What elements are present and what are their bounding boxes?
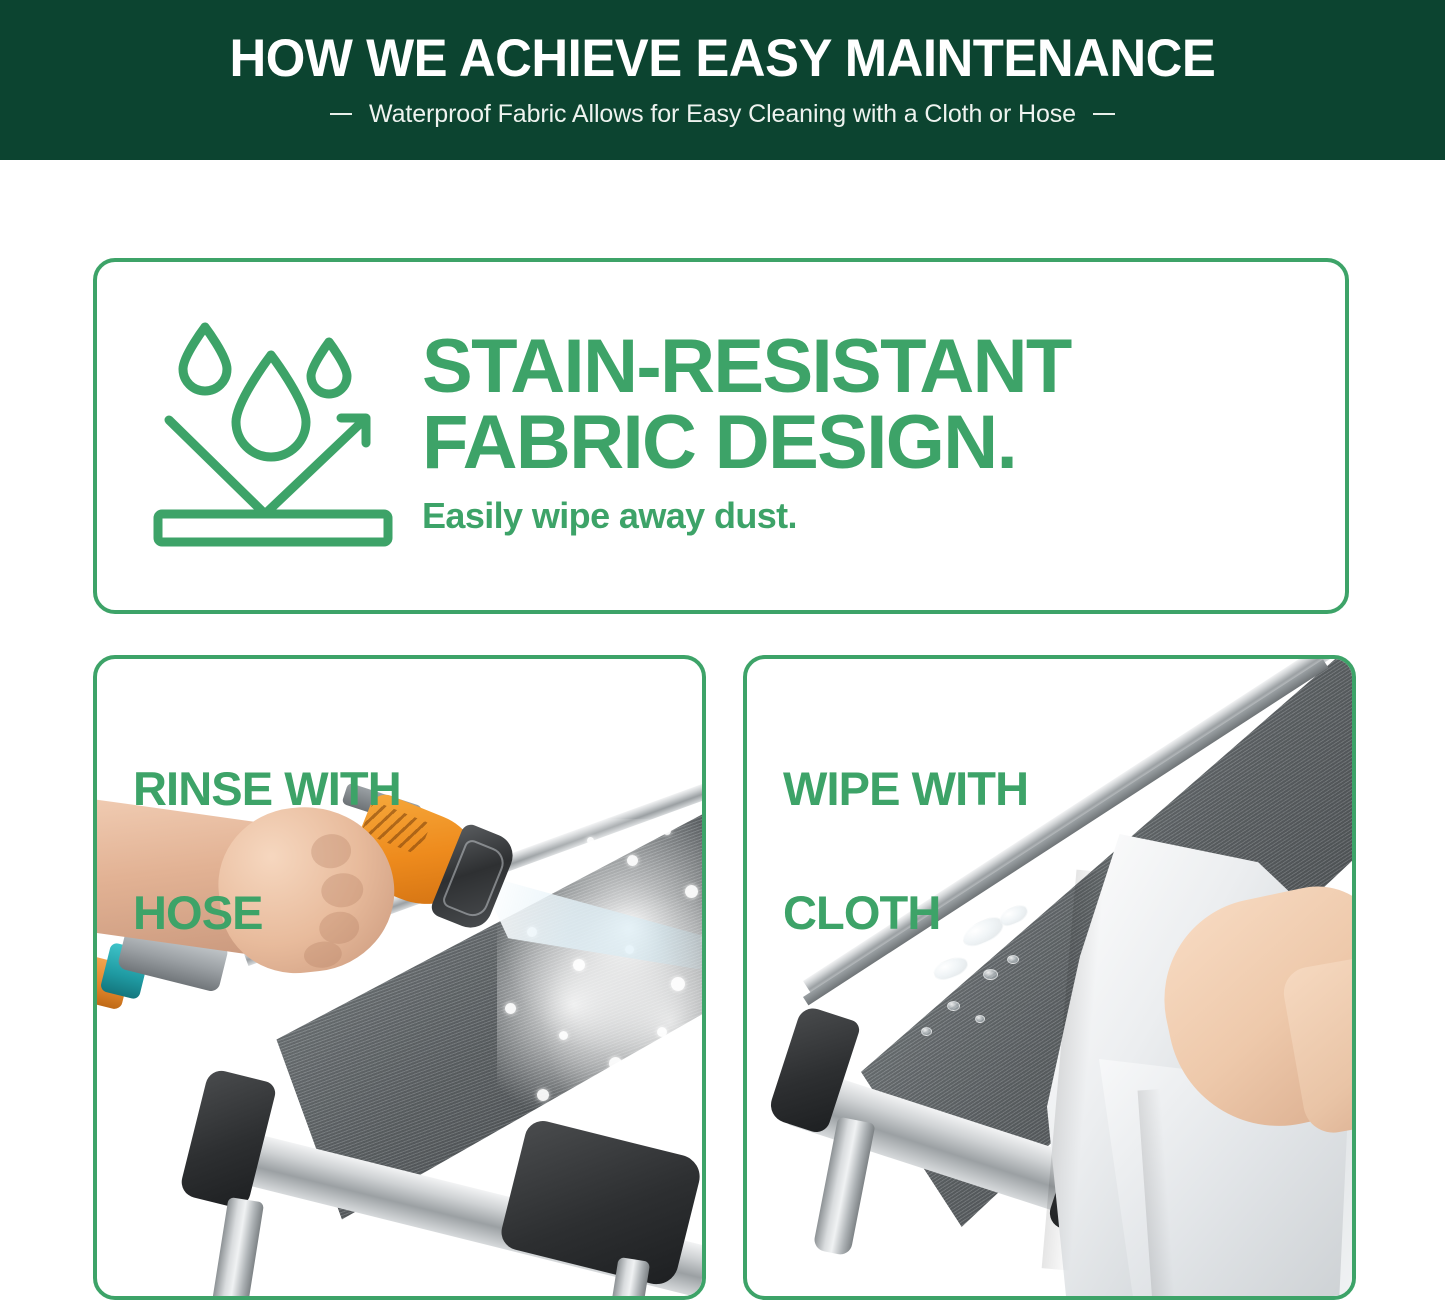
splash-droplet [671,977,685,991]
feature-icon-container [145,316,400,556]
header-subtitle: Waterproof Fabric Allows for Easy Cleani… [369,100,1076,129]
splash-droplet [685,885,698,898]
dash-right-icon [1093,113,1115,115]
step-card-wipe-with-cloth: WIPE WITH CLOTH [743,655,1356,1300]
step-title-rinse-line-2: HOSE [133,882,401,944]
splash-droplet [573,959,585,971]
feature-subheading: Easily wipe away dust. [422,495,1345,537]
infographic-page: HOW WE ACHIEVE EASY MAINTENANCE Waterpro… [0,0,1445,1316]
splash-droplet [559,1031,568,1040]
step-title-wipe-line-1: WIPE WITH [783,758,1028,820]
feature-text-block: STAIN-RESISTANT FABRIC DESIGN. Easily wi… [400,329,1345,542]
cot-leg-left [210,1197,264,1296]
step-title-rinse-line-1: RINSE WITH [133,758,401,820]
header-subtitle-row: Waterproof Fabric Allows for Easy Cleani… [330,100,1115,129]
cot-leg-left [812,1117,875,1257]
dash-left-icon [330,113,352,115]
splash-droplet [593,1119,602,1128]
water-droplet [921,1027,932,1036]
water-repellent-fabric-icon [148,318,398,554]
feature-heading-line-2: FABRIC DESIGN. [422,405,1345,480]
cot-corner-cap-right [498,1117,702,1289]
splash-droplet [643,1099,654,1110]
splash-droplet [663,827,671,835]
splash-droplet [609,1057,622,1070]
feature-card: STAIN-RESISTANT FABRIC DESIGN. Easily wi… [93,258,1349,614]
splash-droplet [537,1089,549,1101]
step-title-wipe-line-2: CLOTH [783,882,1028,944]
step-title-rinse: RINSE WITH HOSE [133,696,401,1006]
splash-droplet [549,865,558,874]
feature-heading-line-1: STAIN-RESISTANT [422,329,1345,404]
splash-droplet [697,1069,702,1077]
splash-droplet [505,1003,516,1014]
splash-droplet [657,1027,667,1037]
water-droplet [975,1015,985,1023]
step-title-wipe: WIPE WITH CLOTH [783,696,1028,1006]
header-banner: HOW WE ACHIEVE EASY MAINTENANCE Waterpro… [0,0,1445,160]
splash-droplet [683,1139,691,1147]
splash-droplet [587,837,594,844]
page-title: HOW WE ACHIEVE EASY MAINTENANCE [230,31,1216,87]
step-card-rinse-with-hose: RINSE WITH HOSE [93,655,706,1300]
feature-heading: STAIN-RESISTANT FABRIC DESIGN. [422,329,1345,479]
splash-droplet [627,855,638,866]
